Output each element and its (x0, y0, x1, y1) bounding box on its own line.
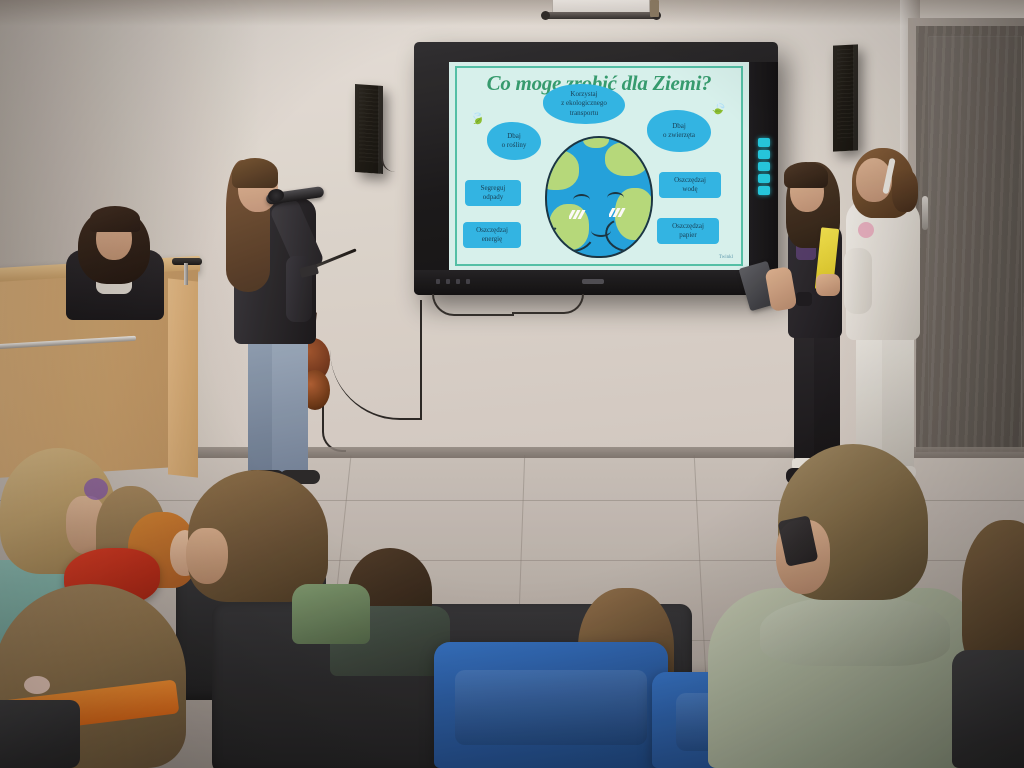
roller-bar (545, 12, 657, 19)
bubble-line: wodę (682, 185, 697, 194)
menu-icon[interactable] (758, 162, 770, 171)
display-screen: Co mogę zrobić dla Ziemi? 🍃 🍃 (449, 62, 749, 270)
floor-cable (322, 400, 346, 452)
wristwatch (796, 292, 812, 306)
speaker-grille (837, 49, 854, 142)
presentation-slide: Co mogę zrobić dla Ziemi? 🍃 🍃 (455, 66, 743, 266)
bubble-line: Segreguj (481, 184, 506, 193)
display-brand-logo (582, 279, 604, 284)
speaker-grille (359, 88, 379, 163)
left-child-shirt (0, 700, 80, 768)
door-panel (928, 36, 1022, 452)
display-cable (512, 294, 584, 314)
speaker-edge (853, 44, 858, 150)
red-bow-girl-clip (84, 478, 108, 500)
roller-cap-left (541, 11, 550, 20)
landmass (605, 142, 649, 176)
right-wall-speaker (833, 44, 858, 151)
right-child-hair (962, 520, 1024, 670)
hoodie-girl-arm (844, 248, 872, 314)
tablet-girl-fringe (784, 162, 828, 188)
left-wall-speaker (355, 84, 383, 174)
braided-boy-shirt (292, 584, 370, 644)
braided-boy-head (186, 528, 228, 584)
label-bubble-paper: Oszczędzaj papier (657, 218, 719, 244)
girl-hair-top (232, 158, 278, 188)
label-bubble-animals: Dbaj o zwierzęta (647, 110, 711, 152)
bubble-line: o zwierzęta (663, 131, 695, 140)
display-power-cable (432, 294, 514, 316)
slide-signature: Twinkl (719, 255, 733, 260)
bubble-line: energię (482, 235, 502, 244)
landmass (583, 136, 609, 148)
eye-left (573, 194, 590, 206)
hoodie-girl-hand (816, 274, 840, 296)
eye-right (607, 192, 624, 204)
hoodie-print (858, 222, 874, 238)
hoodie-girl-ponytail (892, 170, 918, 212)
photo-scene: Co mogę zrobić dla Ziemi? 🍃 🍃 (0, 0, 1024, 768)
label-bubble-energy: Oszczędzaj energię (463, 222, 521, 248)
hoodie-hood (760, 596, 950, 666)
display-button[interactable] (436, 279, 440, 284)
bubble-line: transportu (570, 109, 598, 118)
door-handle[interactable] (922, 196, 928, 230)
display-button[interactable] (456, 279, 460, 284)
bubble-line: Oszczędzaj (672, 222, 704, 231)
hoodie-girl-leg-right (882, 330, 914, 472)
bubble-line: Oszczędzaj (476, 226, 508, 235)
bubble-line: odpady (483, 193, 504, 202)
woman-fringe (90, 206, 140, 232)
leaf-decoration-left: 🍃 (467, 108, 487, 128)
hair-tie (24, 676, 50, 694)
settings-icon[interactable] (758, 186, 770, 195)
blush-right (609, 208, 626, 217)
bubble-line: z ekologicznego (561, 99, 607, 108)
ceiling-shadow (0, 0, 1024, 26)
power-icon[interactable] (758, 138, 770, 147)
leaf-decoration-right: 🍃 (708, 98, 729, 119)
chair-blue[interactable] (434, 642, 668, 768)
bubble-line: Dbaj (507, 132, 521, 141)
volume-icon[interactable] (758, 174, 770, 183)
right-child-shirt (952, 650, 1024, 768)
bubble-line: Dbaj (672, 122, 686, 131)
bubble-line: Korzystaj (570, 90, 597, 99)
bubble-line: o rośliny (502, 141, 527, 150)
podium-microphone-pole (184, 263, 188, 285)
label-bubble-plants: Dbaj o rośliny (487, 122, 541, 160)
source-icon[interactable] (758, 150, 770, 159)
speaker-cable (381, 120, 399, 172)
label-bubble-water: Oszczędzaj wodę (659, 172, 721, 198)
display-button[interactable] (446, 279, 450, 284)
bubble-line: papier (679, 231, 697, 240)
bubble-line: Oszczędzaj (674, 176, 706, 185)
wall-bracket (650, 0, 659, 17)
label-bubble-waste: Segreguj odpady (465, 180, 521, 206)
smiling-earth-character (545, 136, 653, 258)
landmass (545, 150, 579, 190)
label-bubble-transport: Korzystaj z ekologicznego transportu (543, 84, 625, 124)
girl-leg-right (272, 330, 308, 480)
podium-side (168, 278, 198, 477)
display-button[interactable] (466, 279, 470, 284)
